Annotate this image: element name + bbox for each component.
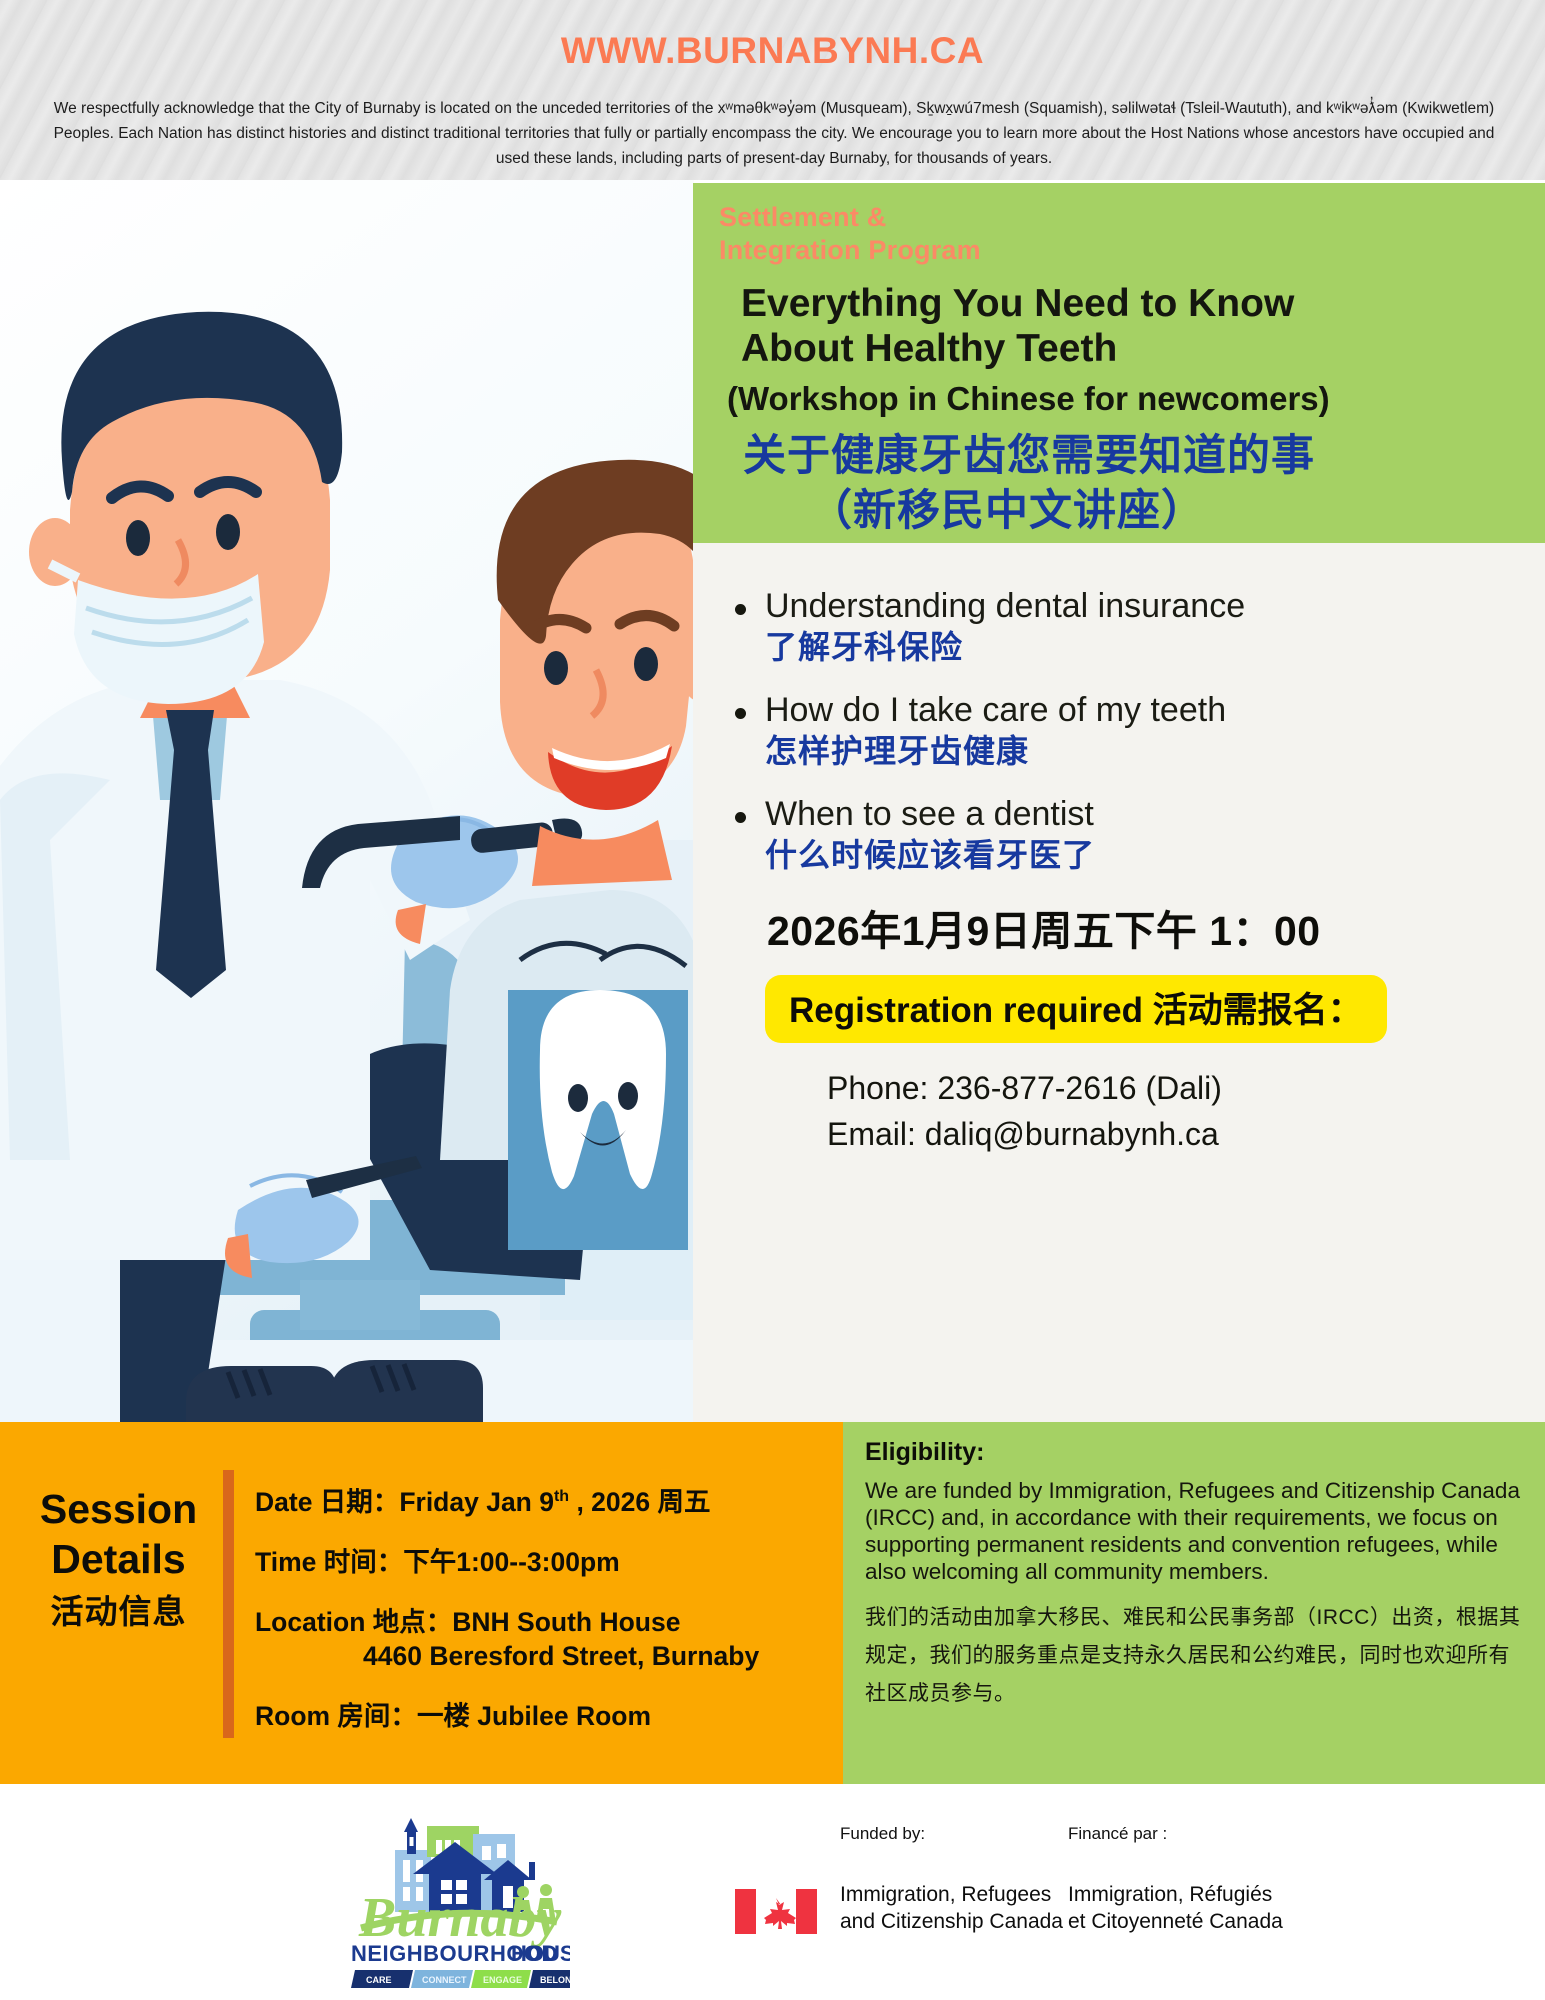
topic-row: Understanding dental insurance <box>717 585 1525 627</box>
workshop-title-chinese: 关于健康牙齿您需要知道的事 <box>719 429 1523 484</box>
contact-email[interactable]: Email: daliq@burnabynh.ca <box>827 1111 1525 1157</box>
eligibility-text-en: We are funded by Immigration, Refugees a… <box>865 1477 1527 1585</box>
contact-phone[interactable]: Phone: 236-877-2616 (Dali) <box>827 1065 1525 1111</box>
topic-label-en: How do I take care of my teeth <box>765 689 1226 731</box>
topic-label-en: Understanding dental insurance <box>765 585 1245 627</box>
list-item: When to see a dentist 什么时候应该看牙医了 <box>717 793 1525 875</box>
dentist-patient-artwork <box>0 180 694 1422</box>
session-row-location: Location 地点：BNH South House 4460 Beresfo… <box>255 1605 830 1673</box>
session-time-label: Time 时间： <box>255 1547 403 1577</box>
session-heading-line1: Session <box>26 1484 211 1534</box>
ircc-text-english: Immigration, Refugees and Citizenship Ca… <box>840 1881 1063 1935</box>
title-panel: Settlement & Integration Program Everyth… <box>693 183 1545 543</box>
session-room-value: 一楼 Jubilee Room <box>417 1701 651 1731</box>
ircc-fr-line1: Immigration, Réfugiés <box>1068 1881 1283 1908</box>
session-date-label: Date 日期： <box>255 1487 399 1517</box>
session-row-date: Date 日期：Friday Jan 9th , 2026 周五 <box>255 1480 830 1519</box>
list-item: Understanding dental insurance 了解牙科保险 <box>717 585 1525 667</box>
dental-illustration <box>0 180 694 1422</box>
workshop-title: Everything You Need to Know About Health… <box>719 281 1523 371</box>
land-acknowledgement-text: We respectfully acknowledge that the Cit… <box>44 96 1504 171</box>
session-row-room: Room 房间：一楼 Jubilee Room <box>255 1699 830 1733</box>
eligibility-title: Eligibility: <box>865 1438 1527 1467</box>
svg-text:ENGAGE: ENGAGE <box>483 1975 522 1985</box>
session-date-tail: , 2026 周五 <box>569 1487 710 1517</box>
session-heading-line2: Details <box>26 1534 211 1584</box>
workshop-subtitle-chinese: （新移民中文讲座） <box>719 484 1523 539</box>
funded-by-label: Funded by: <box>840 1824 925 1844</box>
ircc-fr-line2: et Citoyenneté Canada <box>1068 1908 1283 1935</box>
session-room-label: Room 房间： <box>255 1701 417 1731</box>
canada-flag-icon <box>735 1889 817 1934</box>
top-banner: WWW.BURNABYNH.CA We respectfully acknowl… <box>0 0 1545 180</box>
session-row-time: Time 时间：下午1:00--3:00pm <box>255 1545 830 1579</box>
session-date-value: Friday Jan 9 <box>399 1487 554 1517</box>
session-detail-rows: Date 日期：Friday Jan 9th , 2026 周五 Time 时间… <box>255 1480 830 1759</box>
ircc-en-line1: Immigration, Refugees <box>840 1881 1063 1908</box>
session-location-address: 4460 Beresford Street, Burnaby <box>255 1639 830 1673</box>
session-divider-line <box>223 1470 234 1738</box>
program-label-line2: Integration Program <box>719 234 1523 267</box>
svg-text:BELONG: BELONG <box>540 1975 570 1985</box>
bullet-dot-icon <box>735 604 746 615</box>
workshop-title-line2: About Healthy Teeth <box>741 326 1523 371</box>
burnaby-neighbourhood-house-logo: Burnaby NEIGHBOURHOOD HOUSE CARE CONNECT… <box>345 1804 570 1989</box>
svg-text:CARE: CARE <box>366 1975 392 1985</box>
workshop-subtitle: (Workshop in Chinese for newcomers) <box>719 377 1523 421</box>
eligibility-text-zh: 我们的活动由加拿大移民、难民和公民事务部（IRCC）出资，根据其规定，我们的服务… <box>865 1599 1527 1713</box>
topics-list: Understanding dental insurance 了解牙科保险 Ho… <box>717 585 1525 875</box>
session-location-label: Location 地点： <box>255 1607 452 1637</box>
footer: Burnaby NEIGHBOURHOOD HOUSE CARE CONNECT… <box>0 1784 1545 2000</box>
svg-text:CONNECT: CONNECT <box>422 1975 467 1985</box>
registration-required-badge: Registration required 活动需报名： <box>765 975 1387 1043</box>
topic-label-en: When to see a dentist <box>765 793 1094 835</box>
eligibility-band: Eligibility: We are funded by Immigratio… <box>843 1422 1545 1784</box>
funder-lockup: Funded by: Financé par : Immigration, Re… <box>840 1809 1540 1989</box>
session-heading-chinese: 活动信息 <box>26 1588 211 1636</box>
website-url[interactable]: WWW.BURNABYNH.CA <box>0 30 1545 72</box>
topic-label-zh: 怎样护理牙齿健康 <box>765 731 1525 771</box>
topic-label-zh: 什么时候应该看牙医了 <box>765 835 1525 875</box>
session-location-value: BNH South House <box>452 1607 680 1637</box>
logo-house-text: HOUSE <box>511 1941 570 1966</box>
topic-row: How do I take care of my teeth <box>717 689 1525 731</box>
topic-label-zh: 了解牙科保险 <box>765 627 1525 667</box>
logo-tag-ribbons: CARE CONNECT ENGAGE BELONG <box>351 1970 570 1988</box>
bullet-dot-icon <box>735 708 746 719</box>
ircc-en-line2: and Citizenship Canada <box>840 1908 1063 1935</box>
ircc-text-french: Immigration, Réfugiés et Citoyenneté Can… <box>1068 1881 1283 1935</box>
program-label-line1: Settlement & <box>719 201 1523 234</box>
workshop-title-line1: Everything You Need to Know <box>741 281 1523 326</box>
session-time-value: 下午1:00--3:00pm <box>403 1547 619 1577</box>
session-details-heading: Session Details 活动信息 <box>26 1484 211 1636</box>
logo-script-text: Burnaby <box>358 1887 562 1949</box>
list-item: How do I take care of my teeth 怎样护理牙齿健康 <box>717 689 1525 771</box>
session-details-band: Session Details 活动信息 Date 日期：Friday Jan … <box>0 1422 843 1784</box>
poster-root: WWW.BURNABYNH.CA We respectfully acknowl… <box>0 0 1545 2000</box>
content-panel: Understanding dental insurance 了解牙科保险 Ho… <box>693 543 1545 1422</box>
event-datetime-chinese: 2026年1月9日周五下午 1：00 <box>767 897 1525 957</box>
bullet-dot-icon <box>735 812 746 823</box>
program-label: Settlement & Integration Program <box>719 201 1523 267</box>
session-date-ordinal: th <box>554 1488 569 1505</box>
finance-par-label: Financé par : <box>1068 1824 1167 1844</box>
topic-row: When to see a dentist <box>717 793 1525 835</box>
contact-block: Phone: 236-877-2616 (Dali) Email: daliq@… <box>827 1065 1525 1157</box>
